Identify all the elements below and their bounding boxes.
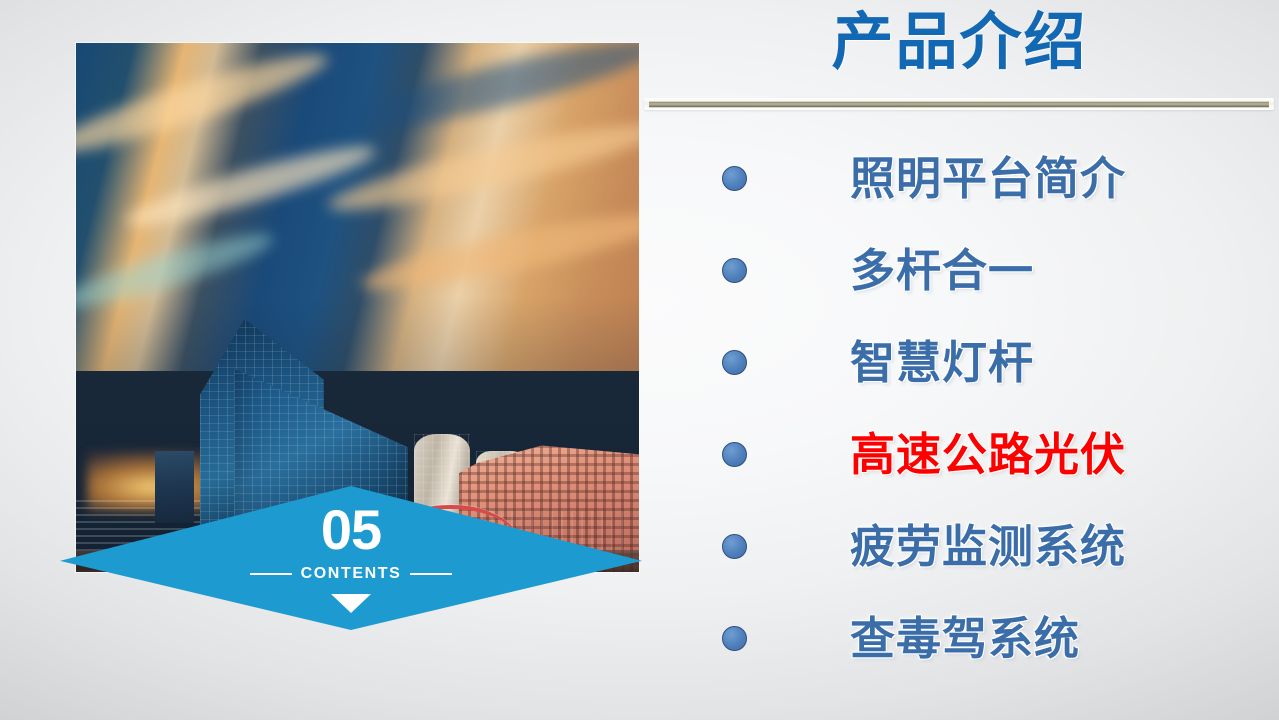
bullet-dot-icon xyxy=(722,442,747,467)
agenda-item-highway-pv[interactable]: 高速公路光伏 xyxy=(640,408,1279,500)
agenda-item-multi-pole[interactable]: 多杆合一 xyxy=(640,224,1279,316)
agenda-item-label: 照明平台简介 xyxy=(850,156,1126,201)
bullet-dot-icon xyxy=(722,258,747,283)
agenda-item-label: 多杆合一 xyxy=(850,248,1034,293)
page-title: 产品介绍 xyxy=(640,6,1279,79)
bullet-dot-icon xyxy=(722,626,747,651)
agenda-list: 照明平台简介 多杆合一 智慧灯杆 高速公路光伏 疲劳监测系统 查毒驾系统 xyxy=(640,132,1279,684)
bullet-dot-icon xyxy=(722,534,747,559)
agenda-item-lighting-platform[interactable]: 照明平台简介 xyxy=(640,132,1279,224)
rule-right xyxy=(410,573,452,575)
agenda-item-label: 智慧灯杆 xyxy=(850,340,1034,385)
agenda-item-fatigue-monitoring[interactable]: 疲劳监测系统 xyxy=(640,500,1279,592)
building-dark-tower xyxy=(155,451,194,523)
bullet-dot-icon xyxy=(722,350,747,375)
agenda-item-drug-driving-check[interactable]: 查毒驾系统 xyxy=(640,592,1279,684)
presentation-slide: 05 CONTENTS 产品介绍 照明平台简介 多杆合一 智慧灯 xyxy=(0,0,1279,720)
bullet-dot-icon xyxy=(722,166,747,191)
rule-left xyxy=(250,573,292,575)
caret-down-icon xyxy=(331,594,371,613)
content-panel: 产品介绍 照明平台简介 多杆合一 智慧灯杆 高速公路光伏 疲劳监测系统 xyxy=(640,0,1279,720)
agenda-item-label: 疲劳监测系统 xyxy=(850,524,1126,569)
city-skyline xyxy=(76,297,639,572)
agenda-item-label: 查毒驾系统 xyxy=(850,616,1080,661)
photo-content xyxy=(76,43,639,572)
title-divider xyxy=(644,98,1274,110)
road-foreground xyxy=(76,550,639,572)
cityscape-photo xyxy=(76,43,639,572)
agenda-item-smart-pole[interactable]: 智慧灯杆 xyxy=(640,316,1279,408)
agenda-item-label: 高速公路光伏 xyxy=(850,432,1126,477)
